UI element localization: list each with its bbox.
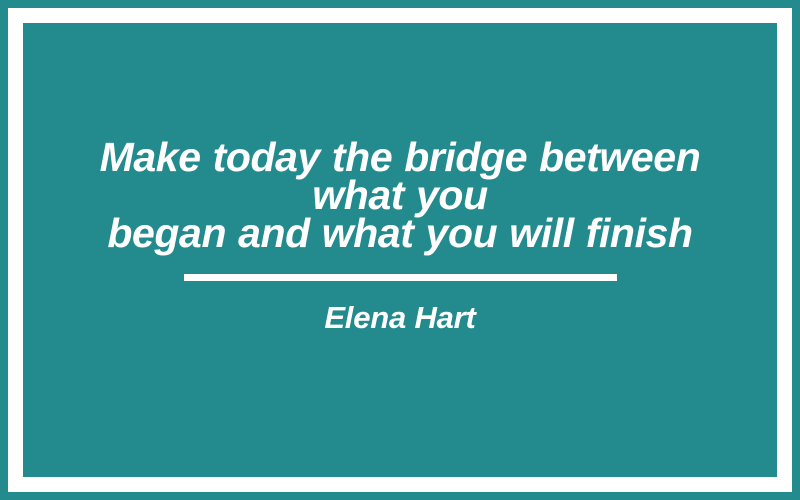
quote-text: Make today the bridge between what you b… [50,138,750,252]
quote-card: Make today the bridge between what you b… [0,0,800,500]
author-name: Elena Hart [324,281,475,335]
quote-line-1: Make today the bridge between what you [50,138,750,214]
divider-rule [184,274,617,281]
quote-content: Make today the bridge between what you b… [23,23,777,335]
quote-line-2: began and what you will finish [50,214,750,252]
decorative-frame-border: Make today the bridge between what you b… [8,8,792,492]
